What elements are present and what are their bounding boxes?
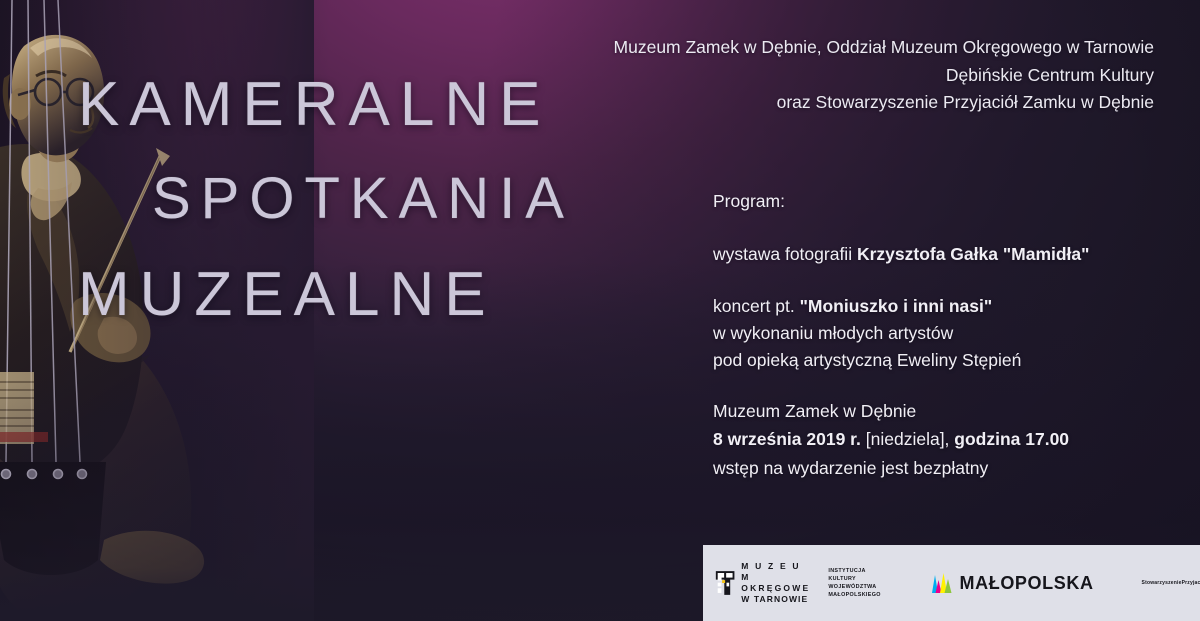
institution-line-3: MAŁOPOLSKIEGO — [828, 591, 884, 599]
concert-prefix: koncert pt. — [713, 296, 800, 316]
event-time: godzina 17.00 — [954, 429, 1069, 449]
institution-line-1: INSTYTUCJA KULTURY — [828, 567, 884, 583]
institution-caption: INSTYTUCJA KULTURY WOJEWÓDZTWA MAŁOPOLSK… — [828, 567, 884, 599]
concert-supervisor: pod opieką artystyczną Eweliny Stępień — [713, 347, 1089, 374]
organizer-line-2: Dębińskie Centrum Kultury — [534, 62, 1154, 90]
event-venue: Muzeum Zamek w Dębnie — [713, 397, 1069, 425]
exhibition-title: Krzysztofa Gałka "Mamidła" — [857, 244, 1090, 264]
headline-line-3: MUZEALNE — [0, 264, 640, 326]
event-details-block: Muzeum Zamek w Dębnie 8 września 2019 r.… — [713, 397, 1069, 482]
concert-title: "Moniuszko i inni nasi" — [800, 296, 993, 316]
event-admission: wstęp na wydarzenie jest bezpłatny — [713, 454, 1069, 482]
event-poster: KAMERALNE SPOTKANIA MUZEALNE Muzeum Zame… — [0, 0, 1200, 621]
exhibition-prefix: wystawa fotografii — [713, 244, 857, 264]
association-line-2: Przyjaciół — [1182, 579, 1200, 588]
concert-performers: w wykonaniu młodych artystów — [713, 320, 1089, 347]
program-concert: koncert pt. "Moniuszko i inni nasi" — [713, 293, 1089, 320]
association-line-1: Stowarzyszenie — [1142, 579, 1182, 588]
institution-line-2: WOJEWÓDZTWA — [828, 583, 884, 591]
museum-line-3: W TARNOWIE — [741, 594, 810, 605]
event-date: 8 września 2019 r. — [713, 429, 861, 449]
museum-wordmark: M U Z E U M OKRĘGOWE W TARNOWIE — [741, 561, 810, 606]
organizer-line-3: oraz Stowarzyszenie Przyjaciół Zamku w D… — [534, 89, 1154, 117]
logo-stowarzyszenie-przyjaciol-zamku: Stowarzyszenie Przyjaciół Zamku w Dębnie — [1142, 574, 1200, 592]
program-heading: Program: — [713, 188, 1089, 215]
event-weekday: [niedziela], — [861, 429, 954, 449]
organizer-line-1: Muzeum Zamek w Dębnie, Oddział Muzeum Ok… — [534, 34, 1154, 62]
museum-monogram-icon — [715, 568, 735, 598]
event-datetime: 8 września 2019 r. [niedziela], godzina … — [713, 425, 1069, 453]
logo-malopolska: MAŁOPOLSKA — [931, 571, 1094, 595]
program-block: Program: wystawa fotografii Krzysztofa G… — [713, 188, 1089, 374]
museum-line-1: M U Z E U M — [741, 561, 810, 583]
logo-muzeum-okregowe-w-tarnowie: M U Z E U M OKRĘGOWE W TARNOWIE INSTYTUC… — [715, 561, 885, 606]
sponsor-logo-bar: M U Z E U M OKRĘGOWE W TARNOWIE INSTYTUC… — [703, 545, 1200, 621]
headline-line-2: SPOTKANIA — [0, 170, 640, 228]
malopolska-mark-icon — [931, 571, 953, 595]
malopolska-wordmark: MAŁOPOLSKA — [960, 573, 1094, 594]
program-exhibition: wystawa fotografii Krzysztofa Gałka "Mam… — [713, 241, 1089, 268]
museum-line-2: OKRĘGOWE — [741, 583, 810, 594]
organizers-block: Muzeum Zamek w Dębnie, Oddział Muzeum Ok… — [534, 34, 1154, 117]
